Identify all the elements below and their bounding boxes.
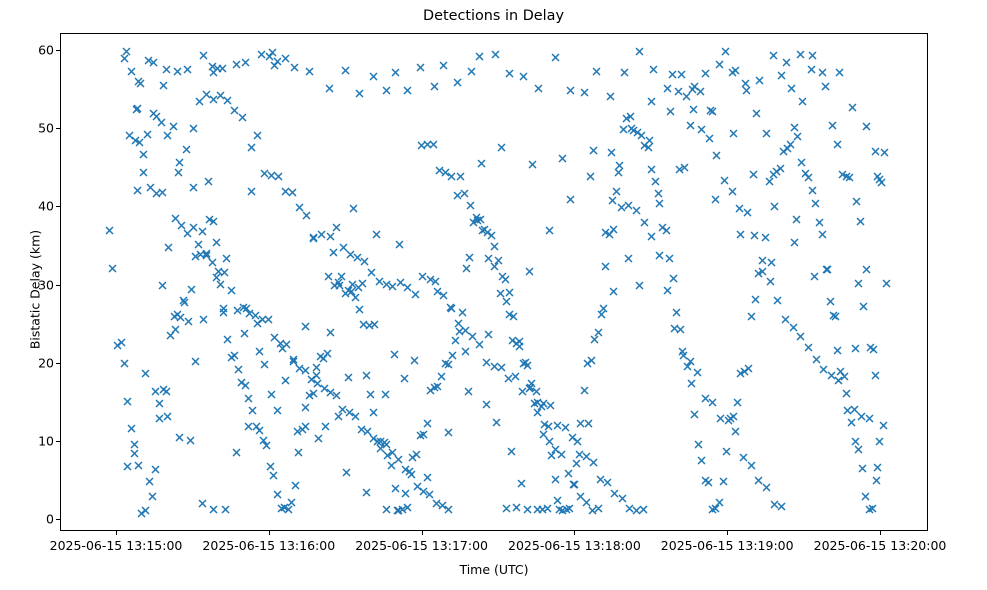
scatter-point bbox=[240, 329, 249, 338]
scatter-point bbox=[484, 254, 493, 263]
scatter-point bbox=[697, 456, 706, 465]
scatter-point bbox=[264, 315, 273, 324]
x-tick-mark bbox=[727, 531, 728, 535]
scatter-point bbox=[583, 359, 592, 368]
scatter-point bbox=[312, 363, 321, 372]
scatter-point bbox=[498, 272, 507, 281]
scatter-point bbox=[426, 386, 435, 395]
scatter-point bbox=[423, 473, 432, 482]
scatter-point bbox=[701, 394, 710, 403]
scatter-point bbox=[644, 143, 653, 152]
scatter-point bbox=[797, 158, 806, 167]
scatter-point bbox=[204, 177, 213, 186]
scatter-point bbox=[708, 107, 717, 116]
scatter-point bbox=[655, 199, 664, 208]
scatter-point bbox=[487, 231, 496, 240]
scatter-point bbox=[302, 211, 311, 220]
scatter-point bbox=[441, 359, 450, 368]
scatter-point bbox=[334, 412, 343, 421]
scatter-point bbox=[184, 317, 193, 326]
scatter-point bbox=[773, 296, 782, 305]
scatter-point bbox=[647, 97, 656, 106]
scatter-point bbox=[731, 427, 740, 436]
scatter-point bbox=[213, 64, 222, 73]
scatter-point bbox=[670, 324, 679, 333]
scatter-point bbox=[750, 231, 759, 240]
scatter-point bbox=[575, 450, 584, 459]
scatter-point bbox=[562, 505, 571, 514]
scatter-point bbox=[247, 187, 256, 196]
scatter-point bbox=[505, 288, 514, 297]
scatter-point bbox=[786, 140, 795, 149]
scatter-point bbox=[253, 319, 262, 328]
scatter-point bbox=[880, 148, 889, 157]
scatter-point bbox=[735, 204, 744, 213]
scatter-point bbox=[722, 447, 731, 456]
scatter-point bbox=[394, 455, 403, 464]
scatter-point bbox=[267, 171, 276, 180]
scatter-point bbox=[769, 170, 778, 179]
scatter-point bbox=[807, 65, 816, 74]
scatter-point bbox=[543, 504, 552, 513]
scatter-point bbox=[801, 169, 810, 178]
scatter-point bbox=[432, 499, 441, 508]
scatter-point bbox=[227, 286, 236, 295]
scatter-point bbox=[360, 257, 369, 266]
scatter-point bbox=[180, 298, 189, 307]
scatter-point bbox=[842, 389, 851, 398]
scatter-point bbox=[546, 401, 555, 410]
scatter-point bbox=[701, 69, 710, 78]
scatter-point bbox=[335, 281, 344, 290]
x-tick-label: 2025-06-15 13:15:00 bbox=[50, 538, 183, 553]
scatter-point bbox=[658, 223, 667, 232]
scatter-point bbox=[355, 89, 364, 98]
scatter-point bbox=[537, 402, 546, 411]
scatter-point bbox=[453, 78, 462, 87]
scatter-point bbox=[314, 434, 323, 443]
scatter-point bbox=[466, 201, 475, 210]
scatter-point bbox=[157, 118, 166, 127]
scatter-point bbox=[241, 381, 250, 390]
scatter-point bbox=[353, 253, 362, 262]
scatter-point bbox=[293, 427, 302, 436]
scatter-point bbox=[339, 243, 348, 252]
scatter-point bbox=[245, 309, 254, 318]
scatter-point bbox=[291, 481, 300, 490]
scatter-point bbox=[747, 312, 756, 321]
scatter-point bbox=[582, 452, 591, 461]
scatter-point bbox=[391, 68, 400, 77]
scatter-point bbox=[833, 346, 842, 355]
scatter-point bbox=[332, 223, 341, 232]
scatter-point bbox=[663, 84, 672, 93]
scatter-point bbox=[827, 371, 836, 380]
scatter-point bbox=[829, 311, 838, 320]
scatter-point bbox=[854, 445, 863, 454]
scatter-point bbox=[359, 320, 368, 329]
scatter-point bbox=[125, 131, 134, 140]
scatter-point bbox=[222, 254, 231, 263]
scatter-point bbox=[141, 506, 150, 515]
scatter-point bbox=[882, 279, 891, 288]
scatter-point bbox=[145, 477, 154, 486]
scatter-point bbox=[159, 81, 168, 90]
scatter-point bbox=[208, 62, 217, 71]
scatter-point bbox=[871, 147, 880, 156]
scatter-point bbox=[473, 216, 482, 225]
scatter-point bbox=[572, 459, 581, 468]
scatter-point bbox=[369, 434, 378, 443]
scatter-point bbox=[747, 461, 756, 470]
scatter-point bbox=[755, 76, 764, 85]
scatter-point bbox=[781, 315, 790, 324]
scatter-point bbox=[804, 173, 813, 182]
scatter-point bbox=[395, 240, 404, 249]
scatter-point bbox=[766, 277, 775, 286]
scatter-point bbox=[873, 463, 882, 472]
scatter-point bbox=[711, 504, 720, 513]
scatter-point bbox=[216, 91, 225, 100]
y-tick-mark bbox=[56, 441, 60, 442]
scatter-point bbox=[497, 143, 506, 152]
scatter-point bbox=[462, 264, 471, 273]
scatter-point bbox=[219, 304, 228, 313]
scatter-point bbox=[262, 441, 271, 450]
scatter-point bbox=[749, 170, 758, 179]
scatter-point bbox=[850, 405, 859, 414]
scatter-point bbox=[871, 371, 880, 380]
scatter-point bbox=[532, 387, 541, 396]
scatter-point bbox=[295, 364, 304, 373]
scatter-point bbox=[507, 447, 516, 456]
scatter-point bbox=[873, 172, 882, 181]
scatter-point bbox=[289, 357, 298, 366]
scatter-point bbox=[705, 134, 714, 143]
scatter-point bbox=[502, 504, 511, 513]
scatter-point bbox=[191, 357, 200, 366]
scatter-point bbox=[177, 221, 186, 230]
scatter-point bbox=[527, 379, 536, 388]
scatter-point bbox=[133, 104, 142, 113]
scatter-point bbox=[482, 400, 491, 409]
scatter-point bbox=[865, 414, 874, 423]
scatter-point bbox=[651, 177, 660, 186]
scatter-point bbox=[551, 53, 560, 62]
scatter-point bbox=[346, 250, 355, 259]
scatter-point bbox=[754, 476, 763, 485]
scatter-point bbox=[731, 66, 740, 75]
scatter-point bbox=[701, 476, 710, 485]
scatter-point bbox=[135, 138, 144, 147]
scatter-point bbox=[751, 295, 760, 304]
scatter-point bbox=[366, 390, 375, 399]
scatter-point bbox=[433, 287, 442, 296]
scatter-point bbox=[189, 124, 198, 133]
x-tick-mark bbox=[269, 531, 270, 535]
scatter-point bbox=[362, 371, 371, 380]
scatter-point bbox=[596, 475, 605, 484]
scatter-point bbox=[403, 283, 412, 292]
scatter-point bbox=[171, 214, 180, 223]
scatter-point bbox=[120, 359, 129, 368]
scatter-point bbox=[669, 274, 678, 283]
scatter-point bbox=[620, 68, 629, 77]
scatter-point bbox=[305, 67, 314, 76]
scatter-point bbox=[770, 202, 779, 211]
scatter-point bbox=[281, 187, 290, 196]
scatter-point bbox=[640, 141, 649, 150]
scatter-point bbox=[255, 426, 264, 435]
scatter-point bbox=[298, 425, 307, 434]
scatter-point bbox=[815, 218, 824, 227]
scatter-point bbox=[413, 482, 422, 491]
scatter-point bbox=[149, 58, 158, 67]
scatter-point bbox=[694, 440, 703, 449]
scatter-point bbox=[419, 487, 428, 496]
scatter-point bbox=[494, 256, 503, 265]
scatter-point bbox=[269, 471, 278, 480]
scatter-point bbox=[324, 272, 333, 281]
scatter-point bbox=[566, 195, 575, 204]
scatter-point bbox=[875, 175, 884, 184]
scatter-point bbox=[515, 337, 524, 346]
scatter-point bbox=[592, 67, 601, 76]
scatter-point bbox=[519, 72, 528, 81]
scatter-point bbox=[382, 440, 391, 449]
scatter-point bbox=[502, 297, 511, 306]
scatter-point bbox=[212, 273, 221, 282]
scatter-point bbox=[123, 397, 132, 406]
x-tick-label: 2025-06-15 13:19:00 bbox=[661, 538, 794, 553]
scatter-point bbox=[626, 112, 635, 121]
scatter-point bbox=[232, 448, 241, 457]
scatter-point bbox=[173, 310, 182, 319]
scatter-point bbox=[523, 505, 532, 514]
scatter-point bbox=[512, 339, 521, 348]
scatter-point bbox=[862, 265, 871, 274]
scatter-point bbox=[223, 335, 232, 344]
scatter-point bbox=[444, 360, 453, 369]
scatter-point bbox=[284, 505, 293, 514]
scatter-point bbox=[680, 163, 689, 172]
scatter-point bbox=[580, 88, 589, 97]
scatter-point bbox=[158, 281, 167, 290]
scatter-point bbox=[155, 414, 164, 423]
scatter-point bbox=[851, 437, 860, 446]
scatter-point bbox=[590, 335, 599, 344]
scatter-point bbox=[273, 406, 282, 415]
scatter-point bbox=[518, 387, 527, 396]
scatter-point bbox=[130, 449, 139, 458]
scatter-point bbox=[136, 79, 145, 88]
scatter-point bbox=[708, 398, 717, 407]
scatter-point bbox=[227, 353, 236, 362]
scatter-point bbox=[455, 327, 464, 336]
scatter-point bbox=[196, 250, 205, 259]
scatter-point bbox=[214, 267, 223, 276]
scatter-point bbox=[741, 79, 750, 88]
scatter-point bbox=[171, 325, 180, 334]
scatter-point bbox=[586, 172, 595, 181]
scatter-point bbox=[615, 161, 624, 170]
scatter-point bbox=[842, 172, 851, 181]
scatter-point bbox=[515, 342, 524, 351]
scatter-point bbox=[248, 406, 257, 415]
scatter-point bbox=[782, 58, 791, 67]
plot-axes bbox=[60, 33, 928, 531]
scatter-point bbox=[151, 387, 160, 396]
scatter-point bbox=[274, 172, 283, 181]
scatter-point bbox=[530, 399, 539, 408]
scatter-point bbox=[369, 72, 378, 81]
scatter-point bbox=[609, 225, 618, 234]
scatter-point bbox=[430, 383, 439, 392]
scatter-point bbox=[808, 186, 817, 195]
scatter-point bbox=[754, 269, 763, 278]
scatter-point bbox=[430, 82, 439, 91]
scatter-point bbox=[742, 86, 751, 95]
scatter-point bbox=[818, 230, 827, 239]
scatter-point bbox=[758, 256, 767, 265]
y-tick-mark bbox=[56, 206, 60, 207]
scatter-point bbox=[338, 405, 347, 414]
scatter-point bbox=[480, 225, 489, 234]
scatter-point bbox=[258, 315, 267, 324]
scatter-point bbox=[288, 188, 297, 197]
scatter-point bbox=[512, 503, 521, 512]
scatter-point bbox=[174, 168, 183, 177]
scatter-point bbox=[475, 52, 484, 61]
scatter-point bbox=[357, 425, 366, 434]
scatter-point bbox=[564, 469, 573, 478]
scatter-point bbox=[674, 87, 683, 96]
scatter-point bbox=[555, 505, 564, 514]
scatter-point bbox=[553, 496, 562, 505]
scatter-point bbox=[708, 505, 717, 514]
scatter-point bbox=[649, 65, 658, 74]
x-tick-label: 2025-06-15 13:18:00 bbox=[508, 538, 641, 553]
scatter-point bbox=[666, 107, 675, 116]
scatter-point bbox=[601, 228, 610, 237]
scatter-point bbox=[792, 215, 801, 224]
scatter-point bbox=[334, 278, 343, 287]
scatter-point bbox=[729, 412, 738, 421]
scatter-point bbox=[344, 286, 353, 295]
scatter-point bbox=[344, 373, 353, 382]
scatter-point bbox=[309, 234, 318, 243]
scatter-point bbox=[856, 217, 865, 226]
scatter-point bbox=[637, 131, 646, 140]
scatter-point bbox=[845, 173, 854, 182]
scatter-point bbox=[144, 56, 153, 65]
scatter-point bbox=[209, 505, 218, 514]
scatter-point bbox=[812, 355, 821, 364]
scatter-point bbox=[589, 146, 598, 155]
scatter-point bbox=[547, 451, 556, 460]
scatter-point bbox=[553, 421, 562, 430]
scatter-point bbox=[382, 505, 391, 514]
scatter-point bbox=[376, 437, 385, 446]
scatter-point bbox=[244, 394, 253, 403]
scatter-point bbox=[290, 63, 299, 72]
scatter-point bbox=[767, 258, 776, 267]
scatter-point bbox=[719, 477, 728, 486]
scatter-point bbox=[796, 50, 805, 59]
scatter-point bbox=[170, 312, 179, 321]
x-tick-mark bbox=[574, 531, 575, 535]
scatter-point bbox=[365, 321, 374, 330]
scatter-point bbox=[662, 226, 671, 235]
scatter-point bbox=[396, 278, 405, 287]
scatter-point bbox=[618, 494, 627, 503]
scatter-point bbox=[375, 277, 384, 286]
chart-title: Detections in Delay bbox=[0, 8, 987, 24]
scatter-point bbox=[122, 47, 131, 56]
scatter-point bbox=[448, 351, 457, 360]
scatter-point bbox=[464, 387, 473, 396]
x-tick-label: 2025-06-15 13:17:00 bbox=[355, 538, 488, 553]
scatter-point bbox=[558, 506, 567, 515]
scatter-point bbox=[477, 159, 486, 168]
scatter-point bbox=[282, 340, 291, 349]
scatter-point bbox=[521, 358, 530, 367]
scatter-point bbox=[787, 84, 796, 93]
scatter-point bbox=[444, 505, 453, 514]
scatter-point bbox=[287, 498, 296, 507]
scatter-point bbox=[461, 326, 470, 335]
scatter-point bbox=[580, 386, 589, 395]
scatter-point bbox=[777, 502, 786, 511]
scatter-point bbox=[137, 509, 146, 518]
scatter-point bbox=[847, 418, 856, 427]
scatter-point bbox=[277, 504, 286, 513]
scatter-point bbox=[724, 416, 733, 425]
scatter-point bbox=[622, 114, 631, 123]
x-axis-label: Time (UTC) bbox=[60, 562, 928, 577]
y-tick-mark bbox=[56, 128, 60, 129]
scatter-point bbox=[804, 343, 813, 352]
scatter-point bbox=[123, 462, 132, 471]
scatter-point bbox=[164, 243, 173, 252]
scatter-point bbox=[276, 339, 285, 348]
y-tick-label: 60 bbox=[38, 43, 54, 58]
scatter-point bbox=[629, 126, 638, 135]
scatter-point bbox=[325, 84, 334, 93]
scatter-point bbox=[607, 148, 616, 157]
scatter-point bbox=[544, 422, 553, 431]
scatter-point bbox=[195, 97, 204, 106]
scatter-point bbox=[423, 419, 432, 428]
scatter-point bbox=[508, 336, 517, 345]
scatter-point bbox=[697, 125, 706, 134]
scatter-point bbox=[453, 191, 462, 200]
y-tick-label: 40 bbox=[38, 199, 54, 214]
scatter-point bbox=[398, 505, 407, 514]
scatter-point bbox=[762, 483, 771, 492]
y-tick-mark bbox=[56, 363, 60, 364]
scatter-point bbox=[565, 504, 574, 513]
scatter-point bbox=[341, 289, 350, 298]
scatter-point bbox=[216, 280, 225, 289]
scatter-point bbox=[808, 51, 817, 60]
scatter-point bbox=[237, 378, 246, 387]
scatter-point bbox=[836, 367, 845, 376]
scatter-point bbox=[141, 369, 150, 378]
scatter-point bbox=[281, 376, 290, 385]
scatter-point bbox=[319, 354, 328, 363]
scatter-point bbox=[363, 427, 372, 436]
